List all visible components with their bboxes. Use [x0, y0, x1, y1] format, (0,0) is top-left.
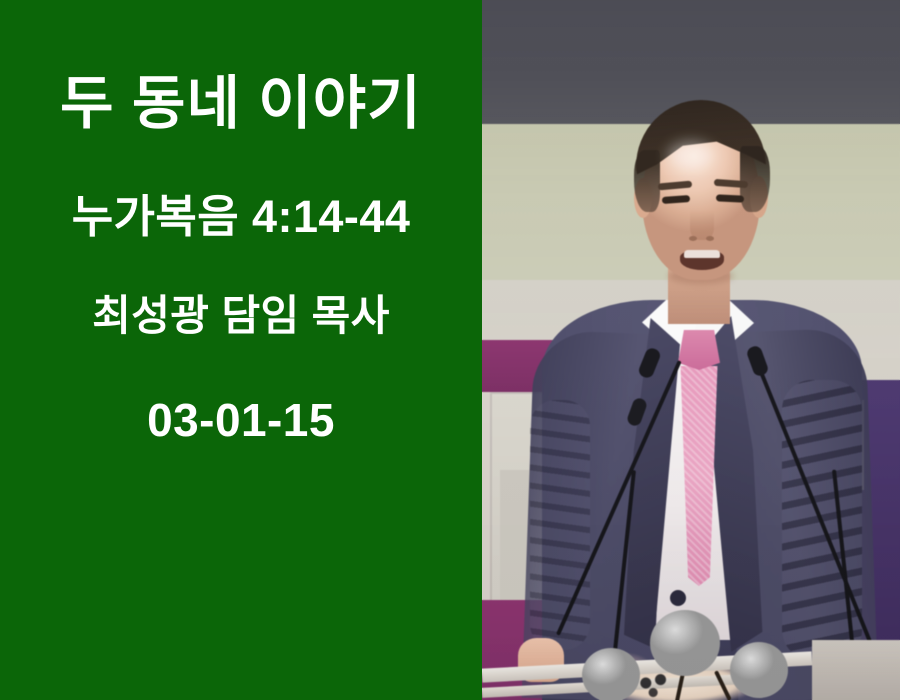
scripture-reference: 누가복음 4:14-44	[0, 188, 482, 246]
hair-side-right	[740, 146, 770, 212]
preacher-photo	[482, 0, 900, 700]
necktie-knot	[678, 330, 720, 370]
nostril-left	[689, 236, 697, 241]
foam-windscreen-1	[582, 648, 640, 700]
foam-windscreen-3	[730, 642, 788, 698]
sermon-title: 두 동네 이야기	[0, 68, 482, 140]
pulpit-side-block	[812, 640, 900, 700]
title-text-panel: 두 동네 이야기 누가복음 4:14-44 최성광 담임 목사 03-01-15	[0, 0, 482, 700]
sermon-date: 03-01-15	[0, 390, 482, 450]
nostril-right	[706, 236, 714, 241]
speaker-name: 최성광 담임 목사	[0, 288, 482, 344]
sermon-title-card: 두 동네 이야기 누가복음 4:14-44 최성광 담임 목사 03-01-15	[0, 0, 900, 700]
hair-side-left	[634, 150, 660, 212]
sleeve-folds-left	[530, 400, 590, 650]
foam-windscreen-2	[650, 610, 720, 676]
forehead-highlight	[668, 142, 714, 170]
eye-right	[716, 194, 744, 202]
suit-button	[670, 590, 686, 606]
teeth	[684, 250, 720, 258]
